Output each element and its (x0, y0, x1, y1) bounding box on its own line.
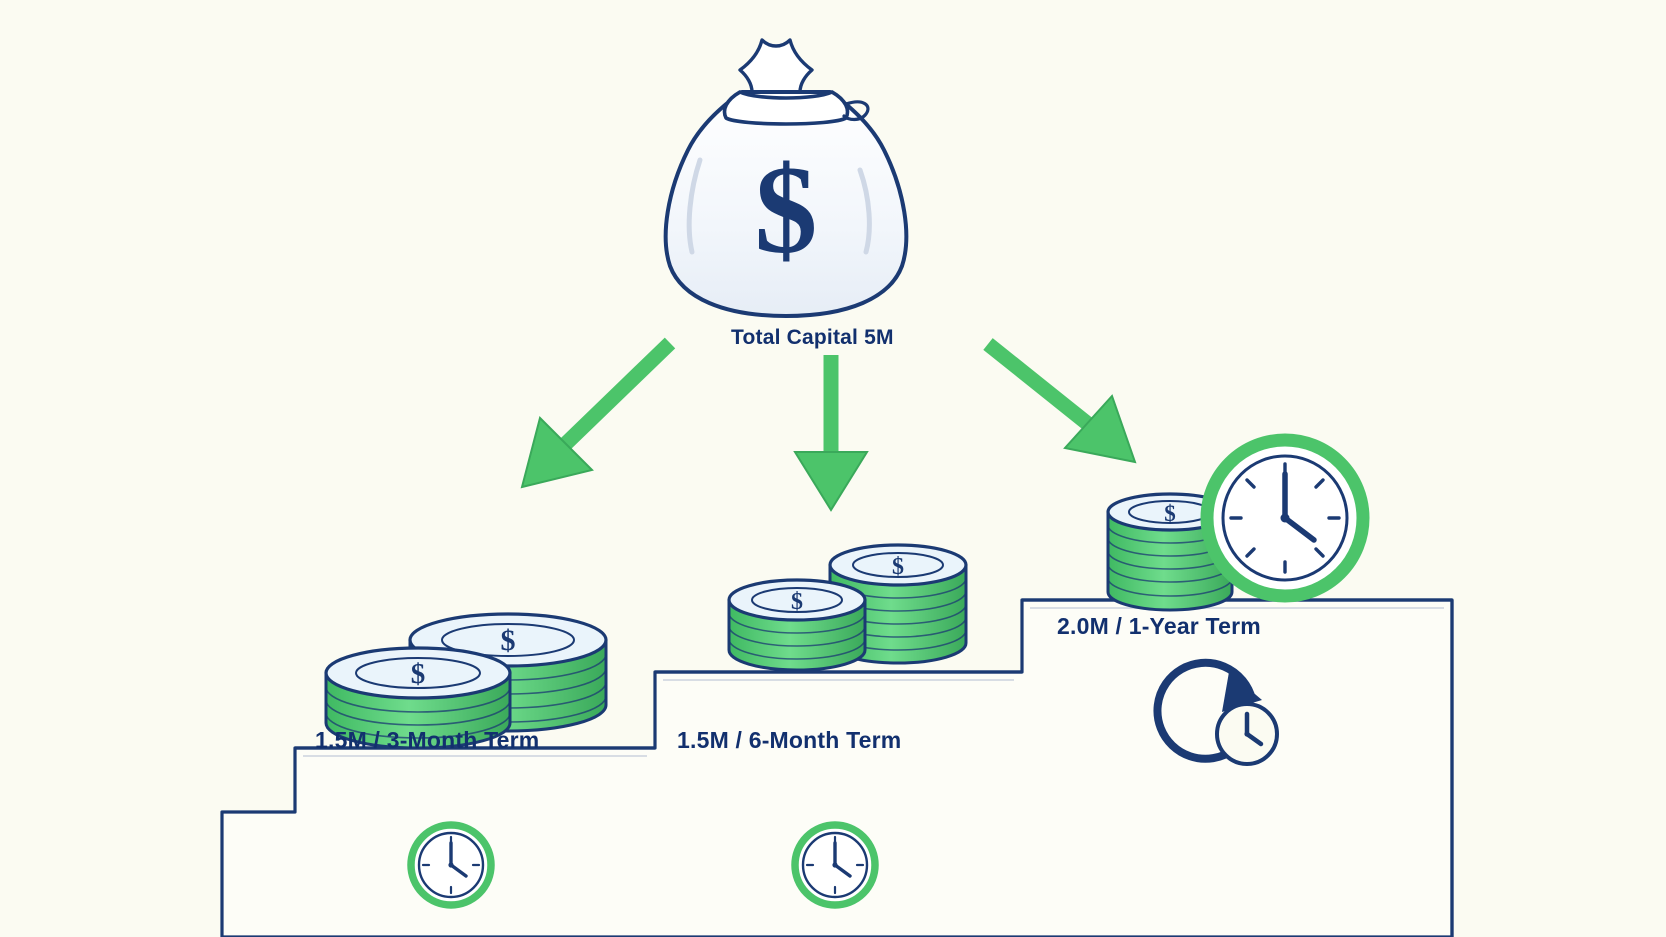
diagram-canvas: $ $ (0, 0, 1666, 937)
step-3-label: 2.0M / 1-Year Term (1057, 613, 1261, 640)
svg-text:$: $ (411, 658, 426, 690)
dollar-symbol: $ (755, 141, 818, 280)
step-1-label: 1.5M / 3-Month Term (315, 727, 539, 754)
svg-text:$: $ (501, 624, 516, 657)
total-capital-label: Total Capital 5M (731, 326, 894, 350)
diagram-artwork: $ $ (0, 0, 1666, 937)
arrow-down-left-icon (522, 343, 670, 487)
money-bag-icon: $ (666, 40, 907, 316)
clock-icon-large (1207, 440, 1363, 596)
step-2-label: 1.5M / 6-Month Term (677, 727, 901, 754)
coin-stack-2: $ $ (729, 545, 966, 670)
svg-text:$: $ (892, 554, 904, 580)
arrow-down-icon (795, 355, 867, 510)
clock-icon-step-1 (411, 825, 491, 905)
arrow-down-right-icon (988, 344, 1135, 462)
svg-text:$: $ (791, 589, 803, 615)
svg-text:$: $ (1164, 501, 1176, 526)
clock-icon-step-2 (795, 825, 875, 905)
